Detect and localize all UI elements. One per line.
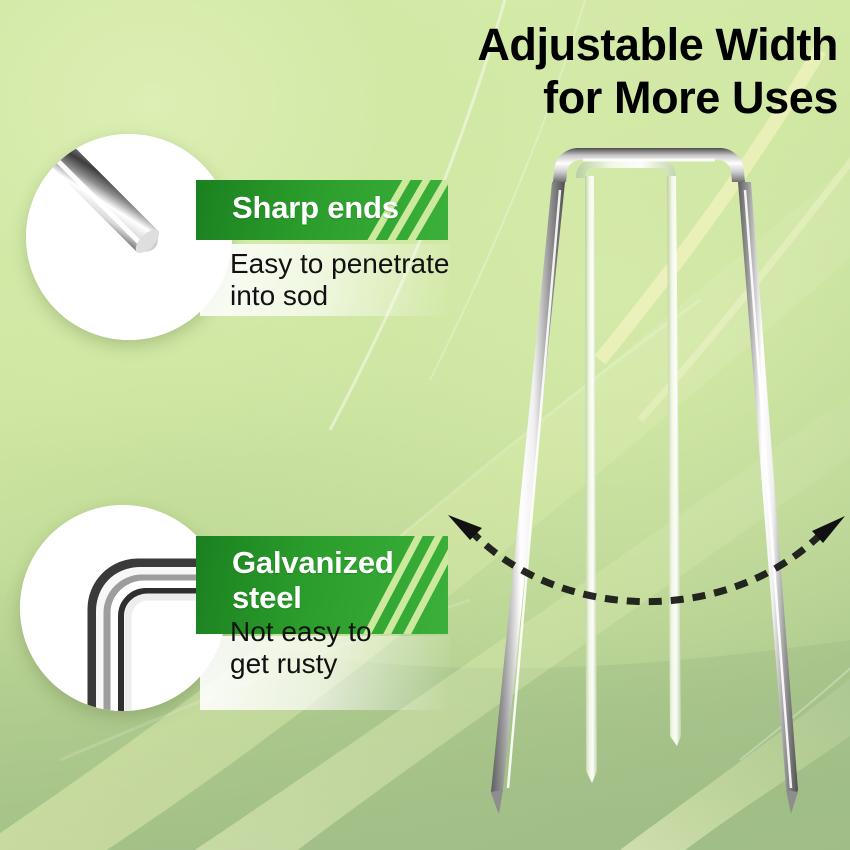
- banner-title-sharp-ends: Sharp ends: [232, 191, 399, 226]
- banner-title-galvanized-steel: Galvanized steel: [232, 546, 394, 615]
- adjustable-width-arrow: [0, 0, 850, 850]
- product-feature-image: Adjustable Width for More Uses: [0, 0, 850, 850]
- banner-sharp-ends: Sharp ends: [196, 180, 448, 240]
- subtext-galvanized-steel: Not easy to get rusty: [230, 616, 500, 681]
- subtext-sharp-ends: Easy to penetrate into sod: [230, 248, 500, 313]
